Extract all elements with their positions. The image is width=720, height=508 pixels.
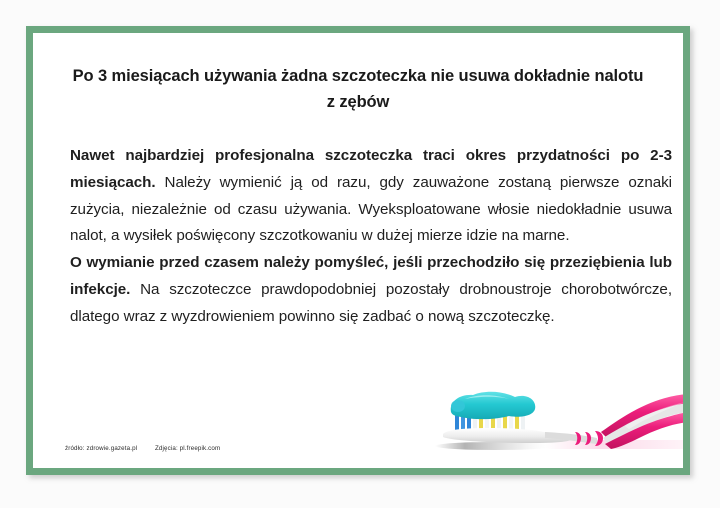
paragraph-2: O wymianie przed czasem należy pomyśleć,… (70, 250, 672, 330)
toothpaste-blob (451, 392, 536, 419)
page-title: Po 3 miesiącach używania żadna szczotecz… (71, 63, 645, 115)
credits: źródło: zdrowie.gazeta.pl Zdjęcia: pl.fr… (65, 445, 220, 452)
headline-line-1: Po 3 miesiącach używania żadna szczotecz… (73, 67, 510, 85)
toothbrush-photo (425, 388, 683, 460)
photo-credit: Zdjęcia: pl.freepik.com (155, 445, 220, 452)
article-body: Nawet najbardziej profesjonalna szczotec… (70, 143, 672, 331)
card-inner: Po 3 miesiącach używania żadna szczotecz… (33, 33, 683, 468)
toothbrush-illustration (425, 388, 683, 460)
paragraph-2-rest: Na szczoteczce prawdopodobniej pozostały… (70, 281, 672, 325)
info-card: Po 3 miesiącach używania żadna szczotecz… (26, 26, 690, 475)
source-credit: źródło: zdrowie.gazeta.pl (65, 445, 137, 452)
paragraph-1-rest: Należy wymienić ją od razu, gdy zauważon… (70, 174, 672, 245)
paragraph-1: Nawet najbardziej profesjonalna szczotec… (70, 143, 672, 250)
